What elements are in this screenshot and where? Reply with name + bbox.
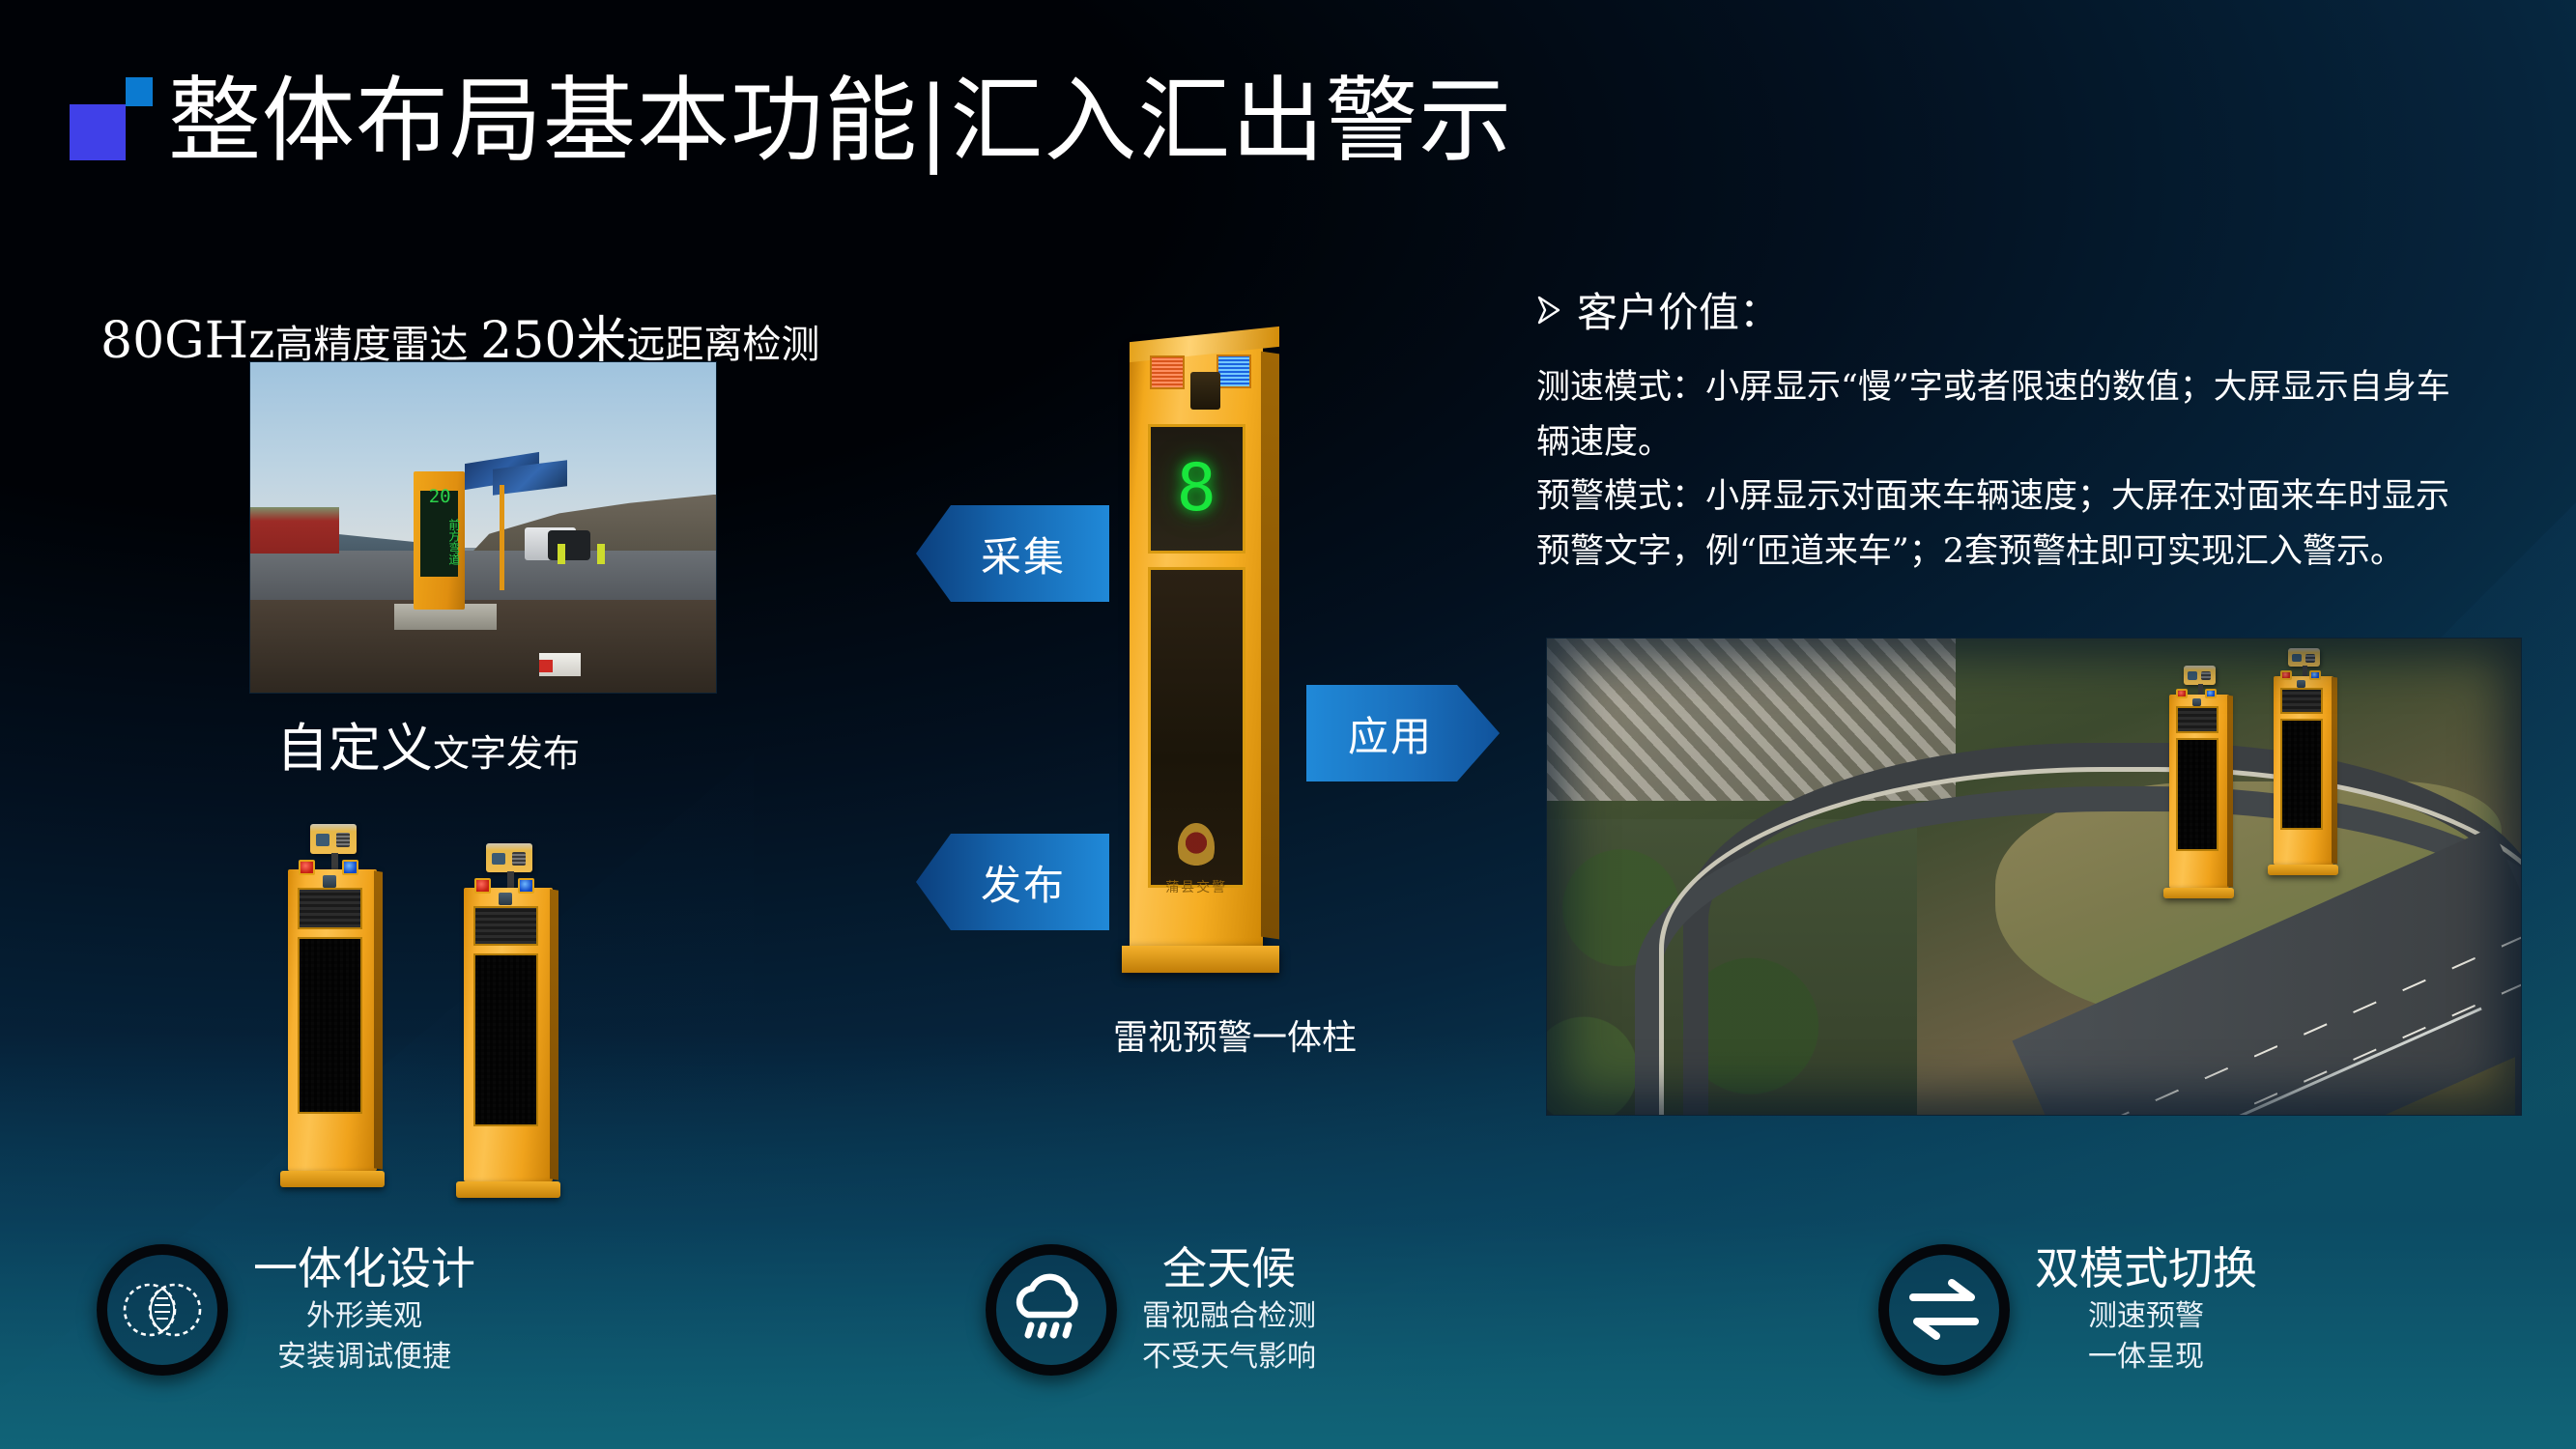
- photo-worker-1: [558, 544, 565, 564]
- customer-value-block: 客户价值： 测速模式：小屏显示“慢”字或者限速的数值；大屏显示自身车 辆速度。 …: [1536, 280, 2522, 580]
- warning-pole-right: [451, 843, 575, 1210]
- feature-1-title: 一体化设计: [253, 1244, 475, 1294]
- value-line-1: 测速模式：小屏显示“慢”字或者限速的数值；大屏显示自身车: [1536, 360, 2522, 415]
- hero-pole-base: [1122, 946, 1280, 973]
- customer-value-heading-label: 客户价值：: [1577, 280, 1780, 339]
- red-warning-lamp-icon: [474, 878, 491, 894]
- highway-ramp-aerial-photo: [1546, 638, 2522, 1116]
- camera-lens-icon: [316, 834, 330, 846]
- blue-warning-lamp-icon: [518, 878, 534, 894]
- feature-2-title: 全天候: [1142, 1244, 1316, 1294]
- custom-caption-sub: 文字发布: [433, 732, 580, 775]
- page-title: 整体布局基本功能|汇入汇出警示: [168, 62, 1512, 181]
- camera-head-icon: [310, 824, 358, 854]
- pole-small-screen: [473, 906, 538, 947]
- slide-canvas: 整体布局基本功能|汇入汇出警示 80GHz高精度雷达 250米远距离检测 20 …: [0, 0, 2576, 1449]
- feature-3-sub-1: 测速预警: [2035, 1298, 2257, 1335]
- pole-caption: 雷视预警一体柱: [1090, 1009, 1380, 1060]
- camera-head-icon: [486, 843, 533, 872]
- title-square-small-icon: [126, 77, 153, 106]
- blue-led-panel-icon: [1216, 355, 1251, 388]
- feature-dual-mode-switch: 双模式切换 测速预警 一体呈现: [1878, 1244, 2257, 1376]
- blue-warning-lamp-icon: [342, 860, 358, 875]
- arrow-collect[interactable]: 采集: [916, 505, 1109, 602]
- camera-lens-icon: [492, 853, 506, 866]
- feature-2-sub-2: 不受天气影响: [1142, 1339, 1316, 1376]
- triangle-bullet-icon: [1536, 296, 1561, 325]
- roadside-installation-photo: 20 前方弯道: [249, 361, 717, 694]
- customer-value-heading: 客户价值：: [1536, 280, 2522, 339]
- pole-base-plate: [456, 1181, 560, 1198]
- value-line-2: 辆速度。: [1536, 415, 2522, 470]
- feature-3-title: 双模式切换: [2035, 1244, 2257, 1294]
- feature-1-sub-2: 安装调试便捷: [253, 1339, 475, 1376]
- photo-solar-mast: [500, 485, 504, 590]
- radar-module-icon: [336, 833, 351, 846]
- warning-pole-left: [275, 824, 399, 1201]
- feature-1-sub-1: 外形美观: [253, 1298, 475, 1335]
- feature-3-sub-2: 一体呈现: [2035, 1339, 2257, 1376]
- hero-pole-camera-icon: [1190, 372, 1221, 410]
- photo-dark-car: [548, 530, 589, 560]
- hero-pole-side-face: [1261, 352, 1279, 940]
- pole-camera-icon: [499, 893, 512, 905]
- arrow-publish[interactable]: 发布: [916, 834, 1109, 930]
- bidirectional-arrows-icon: [1878, 1244, 2010, 1376]
- pole-camera-icon: [323, 875, 336, 888]
- value-line-4: 预警文字，例“匝道来车”；2套预警柱即可实现汇入警示。: [1536, 525, 2522, 580]
- custom-text-caption: 自定义文字发布: [276, 705, 580, 781]
- red-led-panel-icon: [1150, 355, 1185, 389]
- photo-carton-label: [539, 660, 553, 673]
- hero-pole-small-display: 8: [1148, 424, 1245, 554]
- police-emblem-icon: [1178, 823, 1215, 870]
- venn-circles-icon: [97, 1244, 228, 1376]
- arrow-publish-label: 发布: [981, 853, 1066, 912]
- arrow-apply[interactable]: 应用: [1306, 685, 1500, 781]
- rain-cloud-icon: [986, 1244, 1117, 1376]
- warning-pole-pair-render: [275, 816, 585, 1203]
- pole-large-screen: [473, 953, 538, 1126]
- arrow-apply-label: 应用: [1348, 704, 1433, 763]
- photo-worker-2: [597, 544, 605, 564]
- pole-neck: [507, 871, 515, 888]
- feature-integrated-design: 一体化设计 外形美观 安装调试便捷: [97, 1244, 475, 1376]
- value-line-3: 预警模式：小屏显示对面来车辆速度；大屏在对面来车时显示: [1536, 469, 2522, 525]
- pole-small-screen: [298, 888, 362, 929]
- police-badge-text: 蒲县交警: [1159, 877, 1233, 896]
- photo-red-truck: [250, 507, 339, 554]
- speed-digit: 8: [1177, 456, 1216, 522]
- pole-side-face: [374, 870, 383, 1170]
- aerial-vignette: [1547, 639, 2521, 1115]
- feature-2-sub-1: 雷视融合检测: [1142, 1298, 1316, 1335]
- custom-caption-main: 自定义: [276, 718, 433, 779]
- red-warning-lamp-icon: [299, 860, 315, 875]
- title-square-large-icon: [70, 104, 126, 160]
- integrated-warning-pole-photo: 8 蒲县交警: [1111, 319, 1314, 1000]
- photo-led-text: 前方弯道: [419, 509, 459, 575]
- pole-large-screen: [298, 937, 362, 1114]
- arrow-collect-label: 采集: [981, 525, 1066, 583]
- pole-side-face: [550, 889, 558, 1180]
- photo-led-number: 20: [419, 485, 459, 508]
- pole-neck: [331, 853, 339, 870]
- pole-base-plate: [280, 1171, 385, 1188]
- feature-all-weather: 全天候 雷视融合检测 不受天气影响: [986, 1244, 1316, 1376]
- radar-module-icon: [512, 852, 527, 866]
